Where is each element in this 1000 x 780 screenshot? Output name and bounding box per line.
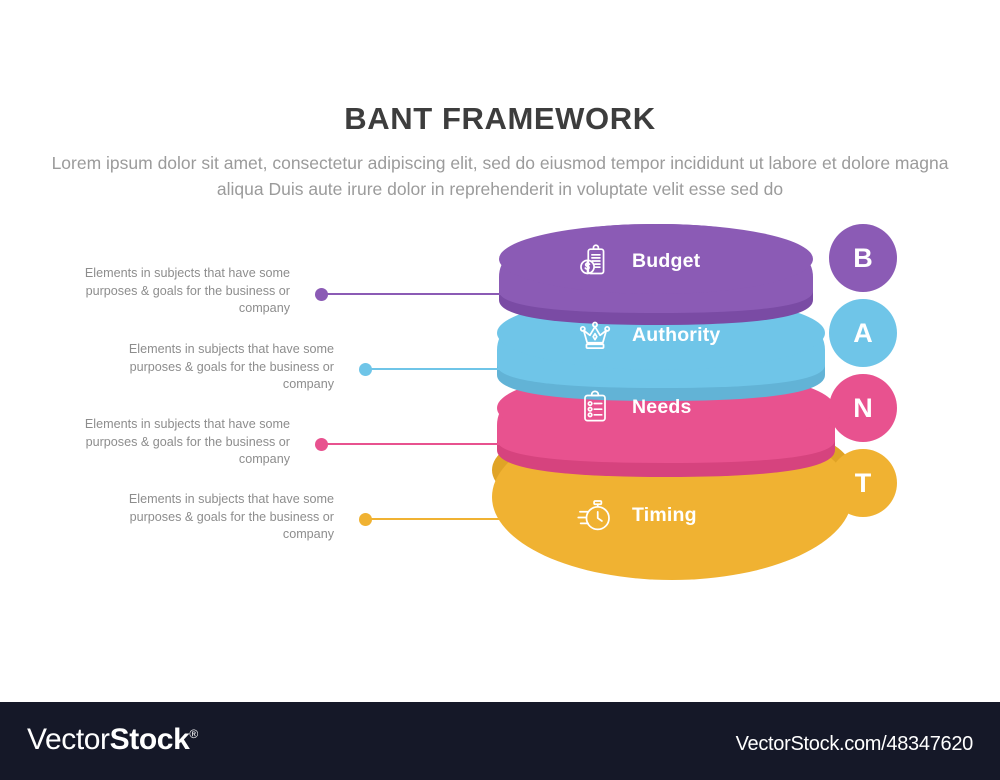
clipboard-checklist-icon — [575, 387, 615, 427]
badge-letter: B — [853, 243, 873, 274]
connector-timing — [359, 518, 559, 520]
band-label-text: Needs — [632, 396, 692, 419]
band-label-budget[interactable]: Budget — [575, 241, 700, 281]
connector-line — [325, 443, 560, 445]
band-label-timing[interactable]: Timing — [575, 495, 697, 535]
watermark-bar: VectorStock® VectorStock.com/48347620 — [0, 702, 1000, 780]
logo-bold-text: Stock — [110, 723, 190, 756]
connector-dot[interactable] — [359, 513, 372, 526]
description-needs: Elements in subjects that have some purp… — [40, 416, 290, 469]
badge-timing[interactable]: T — [829, 449, 897, 517]
connector-authority — [359, 368, 544, 370]
connector-dot[interactable] — [315, 288, 328, 301]
connector-needs — [315, 443, 550, 445]
badge-letter: T — [855, 468, 872, 499]
description-authority: Elements in subjects that have some purp… — [84, 341, 334, 394]
badge-letter: A — [853, 318, 873, 349]
badge-letter: N — [853, 393, 873, 424]
band-label-text: Budget — [632, 250, 700, 273]
clipboard-dollar-icon — [575, 241, 615, 281]
band-label-authority[interactable]: Authority — [575, 315, 720, 355]
connector-line — [325, 293, 550, 295]
connector-dot[interactable] — [315, 438, 328, 451]
stopwatch-icon — [575, 495, 615, 535]
logo-light-text: Vector — [27, 723, 110, 756]
band-label-text: Authority — [632, 324, 720, 347]
connector-budget — [315, 293, 540, 295]
badge-authority[interactable]: A — [829, 299, 897, 367]
badge-budget[interactable]: B — [829, 224, 897, 292]
vectorstock-logo: VectorStock® — [27, 723, 198, 757]
band-label-needs[interactable]: Needs — [575, 387, 692, 427]
vectorstock-url: VectorStock.com/48347620 — [736, 733, 973, 756]
connector-dot[interactable] — [359, 363, 372, 376]
description-timing: Elements in subjects that have some purp… — [84, 491, 334, 544]
band-label-text: Timing — [632, 504, 697, 527]
connector-line — [369, 368, 554, 370]
connector-line — [369, 518, 569, 520]
badge-needs[interactable]: N — [829, 374, 897, 442]
description-budget: Elements in subjects that have some purp… — [40, 265, 290, 318]
registered-mark: ® — [189, 727, 197, 741]
infographic-canvas: BANT FRAMEWORK Lorem ipsum dolor sit ame… — [0, 0, 1000, 702]
crown-icon — [575, 315, 615, 355]
